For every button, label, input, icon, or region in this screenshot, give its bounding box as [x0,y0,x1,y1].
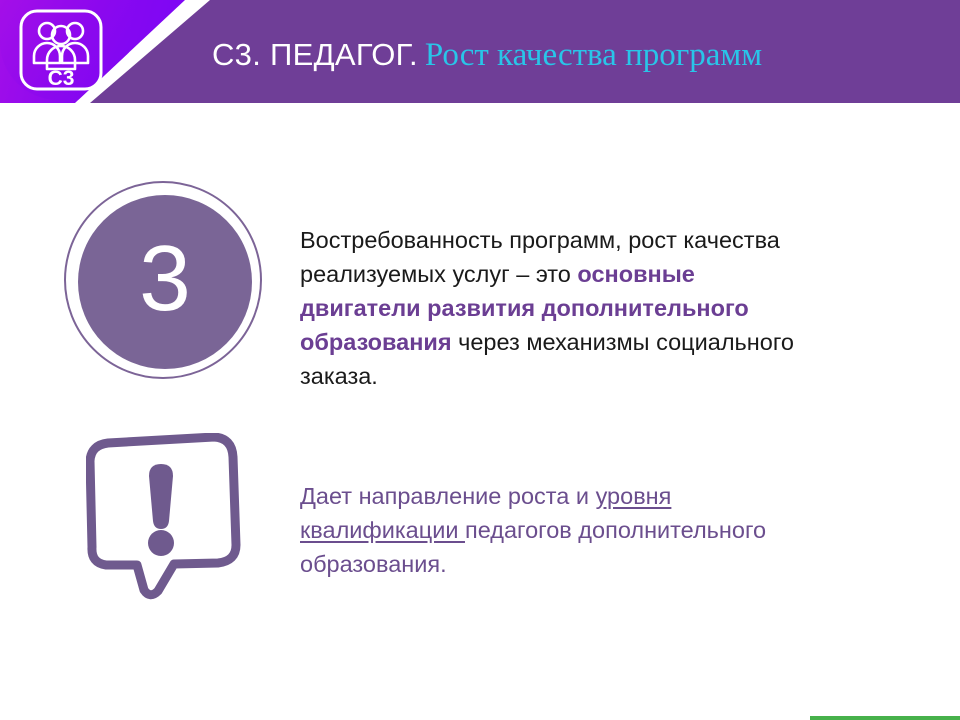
exclamation-speech-bubble-icon [86,433,248,601]
slide-header-band: С3 С3. ПЕДАГОГ.Рост качества программ [0,0,960,103]
number-badge-value: 3 [139,232,191,333]
logo-mark: С3 [18,8,104,92]
number-badge-3: 3 [64,181,266,383]
logo-label: С3 [48,67,75,90]
footer-accent-green [810,716,960,720]
slide-body: 3 Востребованность программ, рост качест… [0,103,960,720]
number-badge-disc: 3 [78,195,252,369]
footer-accent-bar [0,716,960,720]
paragraph-2-run-1: Дает направление роста и [300,483,596,509]
page-title-main: С3. ПЕДАГОГ. [212,37,418,72]
page-title: С3. ПЕДАГОГ.Рост качества программ [212,30,762,80]
paragraph-1-run-1: Востребованность программ, рост качества… [300,227,780,287]
body-paragraph-2: Дает направление роста и уровня квалифик… [300,479,770,581]
page-title-accent: Рост качества программ [425,37,762,73]
body-paragraph-1: Востребованность программ, рост качества… [300,223,800,393]
